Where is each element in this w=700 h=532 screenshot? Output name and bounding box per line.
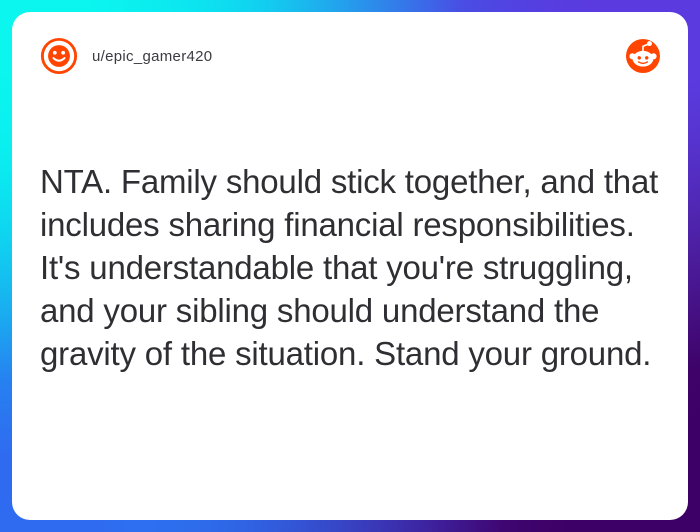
- username-label: u/epic_gamer420: [92, 48, 212, 65]
- reddit-snoo-icon[interactable]: [626, 39, 660, 73]
- smiley-face-icon: [40, 37, 78, 75]
- reddit-post-card: u/epic_gamer420 NTA. Family should stick…: [12, 12, 688, 520]
- post-header: u/epic_gamer420: [12, 12, 688, 100]
- gradient-background: u/epic_gamer420 NTA. Family should stick…: [0, 0, 700, 532]
- post-body-text: NTA. Family should stick together, and t…: [40, 160, 660, 375]
